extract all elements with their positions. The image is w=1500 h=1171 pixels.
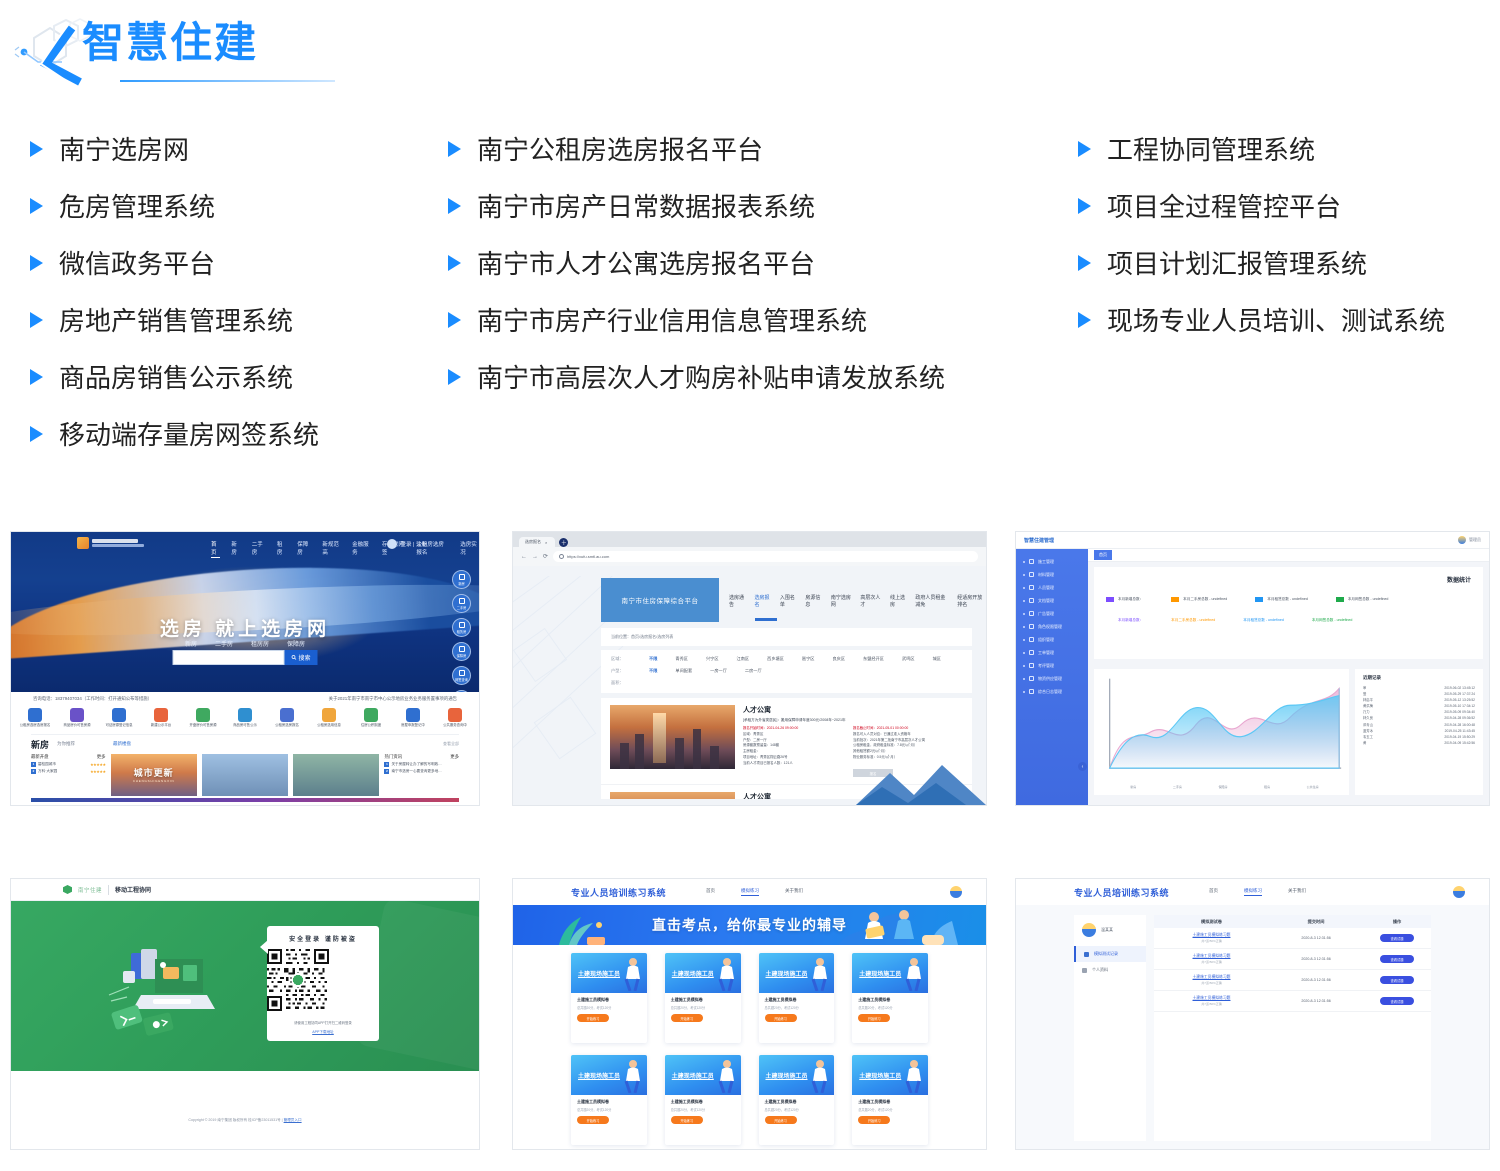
card-image-label: 土建现场施工员	[859, 969, 901, 978]
menu-icon	[1029, 624, 1034, 629]
list-item[interactable]: 商品房销售公示系统	[30, 348, 440, 405]
stats-legend: 本月新增总数： 本月二手房总数 - undefined 本月租赁总数 - und…	[1106, 597, 1471, 602]
start-practice-button[interactable]: 开始练习	[671, 1014, 703, 1022]
table-header: 模拟测试卷 提交时间 操作	[1154, 915, 1431, 928]
listing-title: 人才公寓	[743, 705, 963, 715]
nav-item[interactable]: 关于我们	[1288, 888, 1306, 896]
practice-card[interactable]: 土建现场施工员 土建施工员模拟卷 总共题20分，考试120分 开始练习	[665, 1055, 741, 1145]
notice-bar: 咨询电话：18379407034（工作时间：打开通知公布等措施） 关于2021年…	[11, 692, 479, 702]
nav-item[interactable]: 高层次人才	[860, 594, 881, 608]
paper-link[interactable]: 土建施工员模拟练习题	[1154, 933, 1269, 938]
floating-sidebar[interactable]: 新房 二手房 租赁房 保障房 网签查询 公积金计算 中介公司库	[452, 570, 471, 692]
nav-item[interactable]: 房源信息	[805, 594, 821, 608]
screenshot-training-practice-home[interactable]: 专业人员培训练习系统 首页 模拟练习 关于我们 直击考点，给你最专业的辅导	[512, 878, 987, 1150]
site-nav[interactable]: 首页 模拟练习 关于我们	[1209, 888, 1306, 896]
filter-value[interactable]: 良庆区	[832, 656, 845, 662]
menu-item[interactable]: 首页	[211, 540, 220, 558]
nav-item[interactable]: 线上选房	[890, 594, 906, 608]
card-image: 土建现场施工员	[759, 1055, 835, 1095]
list-item[interactable]: 项目全过程管控平台	[1078, 177, 1488, 234]
records-icon	[1084, 952, 1089, 957]
logo-badge-icon	[77, 537, 89, 549]
sidebar-label: 模拟测试记录	[1094, 951, 1118, 957]
log-row: 黄2019-04-09 15:42:56	[1363, 740, 1475, 746]
promo-title: 城市更新	[134, 766, 174, 779]
list-more[interactable]: 更多	[97, 754, 106, 760]
legend-label: 本月二手房总数 - undefined	[1183, 597, 1227, 602]
site-logo	[77, 537, 144, 549]
chart-svg	[1094, 669, 1349, 785]
card-image-label: 土建现场施工员	[578, 1071, 620, 1080]
person-icon	[715, 957, 737, 991]
login-label[interactable]: 登录 | 注册	[401, 540, 428, 548]
nav-item[interactable]: 经适房开放排名	[957, 594, 986, 608]
column-header: 模拟测试卷	[1154, 919, 1269, 925]
column-header: 操作	[1363, 919, 1431, 925]
quick-entry[interactable]: 住房公积制度	[355, 708, 387, 728]
detail-item: 当前人才项目已报名人数：121人	[743, 761, 853, 767]
quick-entry[interactable]: 开盘房价可售房源	[187, 708, 219, 728]
plant-illustration	[553, 911, 623, 945]
submit-time: 2020-8-3 12:31:56	[1269, 978, 1363, 982]
view-questions-button[interactable]: 查看试题	[1380, 934, 1414, 942]
sidebar-label: 考评管理	[1038, 663, 1054, 669]
practice-card[interactable]: 土建现场施工员 土建施工员模拟卷 总共题20分，考试120分 开始练习	[571, 953, 647, 1043]
sidebar-item-records[interactable]: 模拟测试记录	[1074, 946, 1146, 962]
paper-sub: 共7道/50%正确	[1154, 1002, 1269, 1006]
card-image: 土建现场施工员	[665, 1055, 741, 1095]
sidebar-label: 物资供应管理	[1038, 676, 1062, 682]
site-logo: 专业人员培训练习系统	[1074, 886, 1169, 899]
section-more-link[interactable]: 查看全部	[443, 741, 459, 747]
new-tab-button[interactable]: ＋	[559, 538, 568, 547]
card-image: 土建现场施工员	[852, 1055, 928, 1095]
list-item[interactable]: 现场专业人员培训、测试系统	[1078, 291, 1488, 348]
card-image-label: 土建现场施工员	[859, 1071, 901, 1080]
entry-label: 开盘房价可售房源	[189, 724, 216, 728]
quick-entry[interactable]: 公共服务查询中	[439, 708, 471, 728]
nav-item[interactable]: 选房通告	[729, 594, 745, 608]
filter-row-area[interactable]: 面积：	[611, 680, 962, 686]
entry-icon	[322, 708, 336, 722]
site-logo: 专业人员培训练习系统	[571, 886, 666, 899]
user-sidebar[interactable]: 温某某 模拟测试记录 个人资料	[1074, 915, 1146, 1141]
breadcrumb: 当前位置：首页/选房报名/选房列表	[601, 628, 972, 646]
bullet-arrow-icon	[1078, 141, 1091, 157]
card-image: 土建现场施工员	[665, 953, 741, 993]
card-body: 土建施工员模拟卷 总共题20分，考试120分 开始练习	[571, 993, 647, 1028]
entry-icon	[406, 708, 420, 722]
card-body: 土建施工员模拟卷 总共题20分，考试120分 开始练习	[852, 1095, 928, 1130]
records-main: 温某某 模拟测试记录 个人资料 模拟测试卷 提交时间 操作 土建施工员模拟练习题…	[1016, 905, 1489, 1149]
list-item[interactable]: 南宁公租房选房报名平台	[448, 120, 1058, 177]
card-title: 土建施工员模拟卷	[765, 997, 829, 1003]
filter-value[interactable]: 兴宁区	[706, 656, 719, 662]
chart-x-labels: 新房 二手房 保障房 租房 公共住房	[1112, 785, 1337, 789]
card-subtitle: 总共题20分，考试120分	[577, 1005, 641, 1010]
ad-strip[interactable]	[31, 798, 459, 802]
list-title: 热门资讯	[384, 754, 402, 760]
legend-label: 本月新增总数：	[1118, 597, 1143, 602]
system-name: 项目全过程管控平台	[1107, 187, 1341, 224]
section-subtitle: 为你推荐	[57, 741, 75, 747]
section-tab[interactable]: 最新楼盘	[113, 741, 131, 747]
search-tabs[interactable]: 新房 二手房 租房房 保障房	[11, 639, 479, 648]
filter-panel[interactable]: 区域： 不限 青秀区 兴宁区 江南区 西乡塘区 邕宁区 良庆区 东盟经开区 武鸣…	[601, 650, 972, 693]
promo-image[interactable]	[293, 754, 379, 796]
hero-banner: 首页 新房 二手房 租房 保障房 新规范高 金融服务 存量房网签 公租房选房报名…	[11, 532, 479, 692]
side-nav-button[interactable]: 新房	[452, 570, 471, 589]
list-item[interactable]: 工程协同管理系统	[1078, 120, 1488, 177]
sidebar-item[interactable]: 组织管理	[1016, 633, 1088, 646]
nav-item[interactable]: 首页	[1209, 888, 1218, 896]
card-subtitle: 总共题20分，考试120分	[858, 1005, 922, 1010]
sidebar-label: 文档管理	[1038, 598, 1054, 604]
nav-item-active[interactable]: 模拟练习	[1244, 888, 1262, 896]
sidebar-label: 施工管理	[1038, 559, 1054, 565]
close-icon[interactable]: ×	[545, 540, 547, 545]
site-menu[interactable]: 首页 新房 二手房 租房 保障房 新规范高 金融服务 存量房网签 公租房选房报名…	[211, 540, 479, 558]
card-body: 土建施工员模拟卷 总共题20分，考试120分 开始练习	[759, 993, 835, 1028]
listing-thumbnail	[610, 705, 735, 769]
filter-value[interactable]: 江南区	[737, 656, 750, 662]
sidebar-item-profile[interactable]: 个人资料	[1074, 962, 1146, 978]
side-nav-button[interactable]: 保障房	[452, 642, 471, 661]
entry-label: 商品房价可售房源	[63, 724, 90, 728]
app-download-link[interactable]: APP下载地址	[267, 1030, 379, 1035]
legend-item: 本月租赁总数 - undefined	[1255, 597, 1308, 602]
quick-entry-icons[interactable]: 公租房选房选房报名 商品房价可售房源 可证房源登记信息 新建公示平台 开盘房价可…	[11, 702, 479, 731]
card-body: 土建施工员模拟卷 总共题20分，考试120分 开始练习	[759, 1095, 835, 1130]
practice-card[interactable]: 土建现场施工员 土建施工员模拟卷 总共题20分，考试120分 开始练习	[852, 1055, 928, 1145]
filter-value[interactable]: 不限	[649, 668, 657, 674]
sidebar-label: 工单管理	[1038, 650, 1054, 656]
forward-icon[interactable]: →	[532, 554, 538, 560]
person-icon	[902, 957, 924, 991]
card-title: 土建施工员模拟卷	[671, 1099, 735, 1105]
legend-item: 本月新增总数：	[1106, 597, 1143, 602]
list-item[interactable]: 南宁市房产日常数据报表系统	[448, 177, 1058, 234]
card-image-label: 土建现场施工员	[766, 1071, 808, 1080]
person-icon	[902, 1059, 924, 1093]
system-name: 微信政务平台	[59, 244, 215, 281]
bullet-arrow-icon	[448, 141, 461, 157]
panel-title: 数据统计	[1447, 575, 1471, 584]
filter-value[interactable]: 邕宁区	[802, 656, 815, 662]
bullet-arrow-icon	[30, 369, 43, 385]
screenshot-training-records[interactable]: 专业人员培训练习系统 首页 模拟练习 关于我们 温某某 模拟测试记录 个人资料 …	[1015, 878, 1490, 1150]
card-body: 土建施工员模拟卷 总共题20分，考试120分 开始练习	[852, 993, 928, 1028]
screenshot-gongzufang-platform[interactable]: 选房报名 × ＋ ← → ⟳ https://xufu.smtl.au.com …	[512, 531, 987, 806]
legend-label: 本月租赁总数 - undefined	[1267, 597, 1308, 602]
paper-link[interactable]: 土建施工员模拟练习题	[1154, 975, 1269, 980]
list-item[interactable]: 2南宁市选房一心要查询更多地…	[384, 769, 459, 774]
sidebar-item[interactable]: 工单管理	[1016, 646, 1088, 659]
practice-card[interactable]: 土建现场施工员 土建施工员模拟卷 总共题20分，考试120分 开始练习	[759, 1055, 835, 1145]
sidebar-item[interactable]: 人员管理	[1016, 581, 1088, 594]
stat-value: 本月新增总数：	[1118, 618, 1143, 623]
sidebar-item[interactable]: 综合日志管理	[1016, 685, 1088, 698]
start-practice-button[interactable]: 开始练习	[765, 1116, 797, 1124]
banner-text: 直击考点，给你最专业的辅导	[652, 915, 847, 935]
sidebar-item[interactable]: 角色权限管理	[1016, 620, 1088, 633]
filter-value[interactable]: 青秀区	[675, 656, 688, 662]
paper-sub: 共7道/50%正确	[1154, 939, 1269, 943]
brand-name: 南宁住建	[78, 886, 102, 894]
search-tab[interactable]: 新房	[185, 639, 197, 648]
quick-entry[interactable]: 公租房选房选房报名	[19, 708, 51, 728]
menu-item[interactable]: 二手房	[252, 540, 266, 558]
view-questions-button[interactable]: 查看试题	[1380, 955, 1414, 963]
login-register[interactable]: 登录 | 注册	[387, 539, 428, 549]
stat-value: 本月网签总数 - undefined	[1312, 618, 1353, 623]
site-nav[interactable]: 选房通告 选房报名 入围名单 房源信息 南宁选房网 高层次人才 线上选房 政府人…	[729, 594, 986, 608]
user-name: 管理员	[1469, 537, 1481, 543]
filter-value[interactable]: 二房一厅	[745, 668, 762, 674]
practice-card[interactable]: 土建现场施工员 土建施工员模拟卷 总共题20分，考试120分 开始练习	[665, 953, 741, 1043]
entry-label: 公租房选房选房报名	[20, 724, 51, 728]
card-subtitle: 总共题20分，考试120分	[765, 1107, 829, 1112]
entry-icon	[238, 708, 252, 722]
divider	[108, 885, 109, 895]
nav-item[interactable]: 政府人员租金减免	[915, 594, 948, 608]
address-bar[interactable]: https://xufu.smtl.au.com	[553, 551, 978, 562]
table-row[interactable]: 土建施工员模拟练习题共7道/50%正确 2020-8-3 12:31:56 查看…	[1154, 928, 1431, 949]
card-subtitle: 总共题20分，考试120分	[577, 1107, 641, 1112]
avatar[interactable]	[950, 886, 962, 898]
nav-item-active[interactable]: 模拟练习	[741, 888, 759, 896]
entry-icon	[280, 708, 294, 722]
browser-tabbar[interactable]: 选房报名 × ＋	[513, 532, 986, 547]
app-main: 首页 数据统计 本月新增总数： 本月二手房总数 - undefined 本月租赁…	[1088, 549, 1489, 805]
view-questions-button[interactable]: 查看试题	[1380, 976, 1414, 984]
start-practice-button[interactable]: 开始练习	[858, 1116, 890, 1124]
x-tick: 新房	[1130, 785, 1136, 789]
qr-code-icon[interactable]	[267, 949, 329, 1011]
search-button-label: 搜索	[298, 653, 310, 662]
card-image: 土建现场施工员	[571, 1055, 647, 1095]
list-item[interactable]: 危房管理系统	[30, 177, 440, 234]
bullet-arrow-icon	[448, 255, 461, 271]
practice-card[interactable]: 土建现场施工员 土建施工员模拟卷 总共题20分，考试120分 开始练习	[759, 953, 835, 1043]
stats-values: 本月新增总数： 本月二手房总数 - undefined 本月租赁总数 - und…	[1118, 618, 1471, 623]
sidebar-label: 材料管理	[1038, 572, 1054, 578]
table-row[interactable]: 土建施工员模拟练习题共7道/50%正确 2020-8-3 12:31:56 查看…	[1154, 970, 1431, 991]
start-practice-button[interactable]: 开始练习	[577, 1014, 609, 1022]
brand-hexagon-icon	[63, 885, 72, 894]
filter-value[interactable]: 武鸣区	[902, 656, 915, 662]
paper-link[interactable]: 土建施工员模拟练习题	[1154, 996, 1269, 1001]
card-image: 土建现场施工员	[852, 953, 928, 993]
card-image: 土建现场施工员	[759, 953, 835, 993]
card-subtitle: 总共题20分，考试120分	[671, 1005, 735, 1010]
side-nav-button[interactable]: 二手房	[452, 594, 471, 613]
sidebar-item[interactable]: 广告管理	[1016, 607, 1088, 620]
card-body: 土建施工员模拟卷 总共题20分，考试120分 开始练习	[665, 1095, 741, 1130]
browser-tab[interactable]: 选房报名 ×	[519, 537, 555, 547]
user-menu[interactable]: 管理员	[1458, 536, 1481, 544]
card-title: 土建施工员模拟卷	[577, 1099, 641, 1105]
list-item[interactable]: 房地产销售管理系统	[30, 291, 440, 348]
card-title: 土建施工员模拟卷	[671, 997, 735, 1003]
site-nav[interactable]: 首页 模拟练习 关于我们	[706, 888, 803, 896]
nav-item-active[interactable]: 选房报名	[754, 594, 770, 608]
practice-card[interactable]: 土建现场施工员 土建施工员模拟卷 总共题20分，考试120分 开始练习	[571, 1055, 647, 1145]
filter-label: 面积：	[611, 680, 631, 686]
list-item[interactable]: 项目计划汇报管理系统	[1078, 234, 1488, 291]
start-practice-button[interactable]: 开始练习	[858, 1014, 890, 1022]
qr-card-title: 安全登录 谨防被盗	[267, 926, 379, 943]
search-button[interactable]: 搜索	[285, 650, 318, 665]
table-row[interactable]: 土建施工员模拟练习题共7道/50%正确 2020-8-3 12:31:56 查看…	[1154, 949, 1431, 970]
menu-item[interactable]: 新规范高	[322, 540, 341, 558]
quick-entry[interactable]: 公租房选用信息	[313, 708, 345, 728]
list-item[interactable]: 2万科·大家园★★★★★	[31, 769, 106, 774]
laptop-illustration	[101, 937, 221, 1037]
quick-entry[interactable]: 商品房可售公示	[229, 708, 261, 728]
back-icon[interactable]: ←	[521, 554, 527, 560]
system-name: 南宁公租房选房报名平台	[477, 130, 763, 167]
system-column-3: 工程协同管理系统 项目全过程管控平台 项目计划汇报管理系统 现场专业人员培训、测…	[1078, 120, 1488, 348]
sidebar-item[interactable]: 考评管理	[1016, 659, 1088, 672]
promo-image[interactable]	[202, 754, 288, 796]
entry-label: 商品房可售公示	[233, 724, 257, 728]
person-icon	[621, 1059, 643, 1093]
filter-value[interactable]: 单间配套	[675, 668, 692, 674]
screenshot-project-dashboard[interactable]: 智慧住建管理 管理员 施工管理 材料管理 人员管理 文档管理 广告管理 角色权限…	[1015, 531, 1490, 806]
search-tab[interactable]: 保障房	[287, 639, 305, 648]
person-icon	[808, 1059, 830, 1093]
bullet-arrow-icon	[448, 198, 461, 214]
screenshot-mobile-engineering-login[interactable]: 南宁住建 移动工程协同	[10, 878, 480, 1150]
filter-row-region[interactable]: 区域： 不限 青秀区 兴宁区 江南区 西乡塘区 邕宁区 良庆区 东盟经开区 武鸣…	[611, 656, 962, 662]
start-practice-button[interactable]: 开始练习	[671, 1116, 703, 1124]
avatar[interactable]	[1453, 886, 1465, 898]
paper-sub: 共7道/50%正确	[1154, 981, 1269, 985]
avatar	[1082, 923, 1096, 937]
side-nav-button[interactable]: 网签查询	[452, 666, 471, 685]
entry-icon	[70, 708, 84, 722]
x-tick: 保障房	[1218, 785, 1227, 789]
entry-icon	[28, 708, 42, 722]
search-tab[interactable]: 租房房	[251, 639, 269, 648]
list-item[interactable]: 移动端存量房网签系统	[30, 405, 440, 462]
list-item[interactable]: 南宁市人才公寓选房报名平台	[448, 234, 1058, 291]
admin-entry-link[interactable]: 管理员入口	[284, 1118, 302, 1122]
quick-entry[interactable]: 新建公示平台	[145, 708, 177, 728]
quick-entry[interactable]: 公租房选房报名	[271, 708, 303, 728]
filter-value[interactable]: 西乡塘区	[767, 656, 784, 662]
list-item[interactable]: 微信政务平台	[30, 234, 440, 291]
search-input[interactable]	[173, 650, 285, 665]
log-title: 近期记录	[1363, 675, 1475, 681]
list-item[interactable]: 南宁市房产行业信用信息管理系统	[448, 291, 1058, 348]
hero-slogan: 选房 就上选房网	[11, 614, 479, 641]
filter-value[interactable]: 东盟经开区	[863, 656, 884, 662]
person-icon	[715, 1059, 737, 1093]
entry-label: 住房公积制度	[361, 724, 381, 728]
side-nav-button[interactable]: 租赁房	[452, 618, 471, 637]
nav-item[interactable]: 南宁选房网	[831, 594, 852, 608]
tab-home[interactable]: 首页	[1094, 550, 1112, 560]
reload-icon[interactable]: ⟳	[543, 553, 548, 560]
menu-icon	[1029, 637, 1034, 642]
new-houses-grid: 最新开盘 更多 1碧桂园城市★★★★★ 2万科·大家园★★★★★ 城市更新 CH…	[11, 751, 479, 796]
sidebar-item[interactable]: 物资供应管理	[1016, 672, 1088, 685]
sidebar-item[interactable]: 文档管理	[1016, 594, 1088, 607]
menu-item[interactable]: 新房	[231, 540, 240, 558]
filter-row-layout[interactable]: 户型： 不限 单间配套 一房一厅 二房一厅	[611, 668, 962, 674]
search-tab[interactable]: 二手房	[215, 639, 233, 648]
nav-item[interactable]: 关于我们	[785, 888, 803, 896]
content-tabbar[interactable]: 首页	[1088, 549, 1489, 562]
list-item[interactable]: 1关于房屋转让办了解的写明政…	[384, 762, 459, 767]
menu-item[interactable]: 选房实况	[460, 540, 479, 558]
list-more[interactable]: 更多	[450, 754, 459, 760]
paper-link[interactable]: 土建施工员模拟练习题	[1154, 954, 1269, 959]
browser-urlbar: ← → ⟳ https://xufu.smtl.au.com	[513, 547, 986, 566]
menu-item[interactable]: 租房	[277, 540, 286, 558]
start-practice-button[interactable]: 开始练习	[577, 1116, 609, 1124]
sidebar-item[interactable]: 材料管理	[1016, 568, 1088, 581]
filter-label: 户型：	[611, 668, 631, 674]
filter-value[interactable]: 不限	[649, 656, 657, 662]
card-image-label: 土建现场施工员	[578, 969, 620, 978]
log-name: 黄	[1363, 740, 1366, 746]
quick-entry[interactable]: 房屋申报登记中	[397, 708, 429, 728]
card-image-label: 土建现场施工员	[672, 1071, 714, 1080]
quick-entry[interactable]: 可证房源登记信息	[103, 708, 135, 728]
card-body: 土建施工员模拟卷 总共题20分，考试120分 开始练习	[665, 993, 741, 1028]
nav-active-indicator	[755, 618, 777, 621]
screenshot-xuanfang-website[interactable]: 首页 新房 二手房 租房 保障房 新规范高 金融服务 存量房网签 公租房选房报名…	[10, 531, 480, 806]
practice-card[interactable]: 土建现场施工员 土建施工员模拟卷 总共题20分，考试120分 开始练习	[852, 953, 928, 1043]
table-row[interactable]: 土建施工员模拟练习题共7道/50%正确 2020-8-3 12:31:56 查看…	[1154, 991, 1431, 1012]
entry-label: 公共服务查询中	[443, 724, 467, 728]
list-item[interactable]: 1碧桂园城市★★★★★	[31, 762, 106, 767]
nav-item[interactable]: 入围名单	[780, 594, 796, 608]
filter-value[interactable]: 一房一厅	[710, 668, 727, 674]
notice-right: 关于2021年南宁市南宁市中心公示地房业务业务服务置事项的通告	[329, 696, 457, 702]
bullet-arrow-icon	[30, 141, 43, 157]
list-item[interactable]: 南宁选房网	[30, 120, 440, 177]
system-name: 危房管理系统	[59, 187, 215, 224]
app-sidebar[interactable]: 施工管理 材料管理 人员管理 文档管理 广告管理 角色权限管理 组织管理 工单管…	[1016, 549, 1088, 805]
log-time: 2019-04-09 15:42:56	[1444, 740, 1475, 746]
sidebar-item[interactable]: 施工管理	[1016, 555, 1088, 568]
rating-stars-icon: ★★★★★	[90, 762, 105, 767]
menu-icon	[1029, 585, 1034, 590]
filter-value[interactable]: 城区	[933, 656, 941, 662]
system-name: 现场专业人员培训、测试系统	[1107, 301, 1445, 338]
x-tick: 公共住房	[1307, 785, 1319, 789]
view-questions-button[interactable]: 查看试题	[1380, 997, 1414, 1005]
nav-item[interactable]: 首页	[706, 888, 715, 896]
list-item[interactable]: 南宁市高层次人才购房补贴申请发放系统	[448, 348, 1058, 405]
bullet-arrow-icon	[30, 312, 43, 328]
sidebar-collapse-button[interactable]: ‹	[1078, 762, 1087, 771]
card-body: 土建施工员模拟卷 总共题20分，考试120分 开始练习	[571, 1095, 647, 1130]
stat-value: 本月二手房总数 - undefined	[1171, 618, 1215, 623]
quick-entry[interactable]: 商品房价可售房源	[61, 708, 93, 728]
promo-subtitle: CHENGSHIGENGXIN	[133, 779, 175, 783]
menu-item[interactable]: 保障房	[297, 540, 311, 558]
card-image-label: 土建现场施工员	[766, 969, 808, 978]
search-box[interactable]: 搜索	[173, 650, 318, 665]
start-practice-button[interactable]: 开始练习	[765, 1014, 797, 1022]
promo-banner[interactable]: 城市更新 CHENGSHIGENGXIN	[111, 754, 197, 796]
menu-item[interactable]: 金融服务	[352, 540, 371, 558]
